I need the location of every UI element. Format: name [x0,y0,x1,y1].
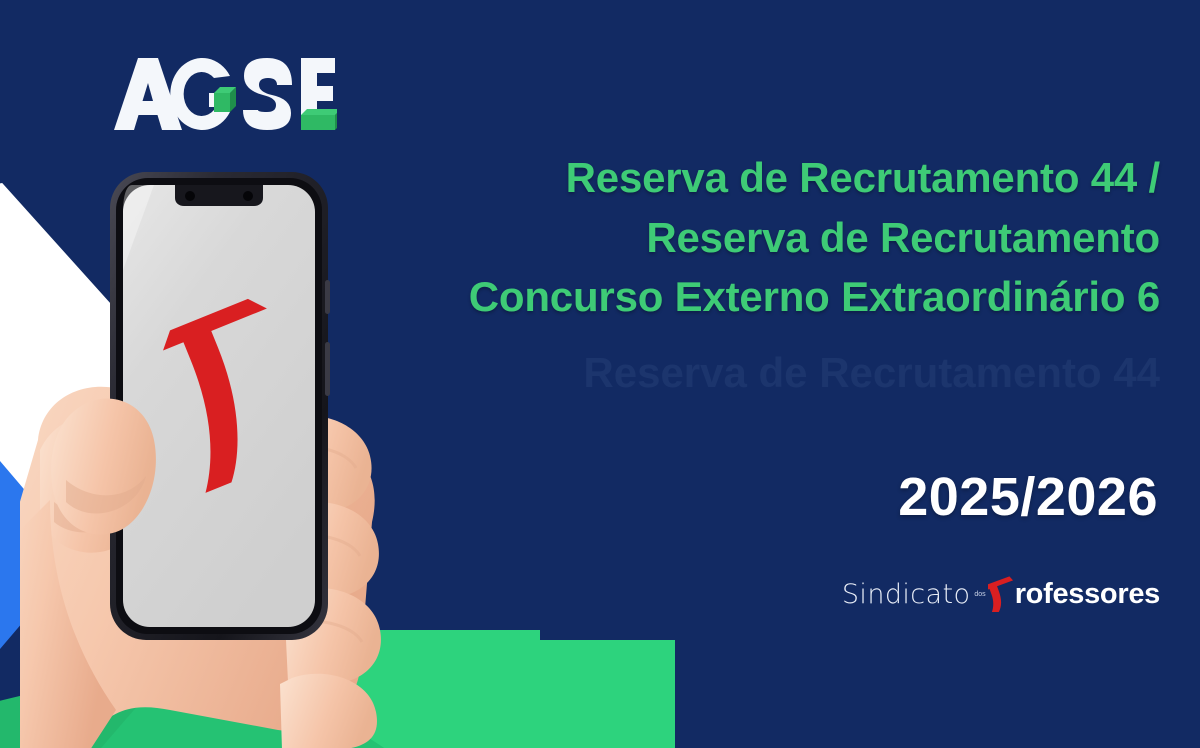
school-year-label: 2025/2026 [898,466,1158,528]
sindicato-dos-professores-logo: Sindicato dos rofessores [842,572,1160,616]
headline-line-2: Reserva de Recrutamento [360,208,1160,268]
sindicato-word: Sindicato [842,581,971,608]
agse-logo-letter-s [243,58,292,130]
professores-word: rofessores [1015,580,1160,609]
headline-ghost-line: Reserva de Recrutamento 44 [360,343,1160,403]
agse-logo [112,52,337,138]
dos-word: dos [974,591,985,598]
agse-logo-letter-g [170,58,236,130]
red-seven-icon [988,576,1018,612]
page-title: Reserva de Recrutamento 44 / Reserva de … [360,148,1160,327]
phone-sensor [243,191,253,201]
agse-logo-letter-e [301,58,337,130]
banner-canvas: Reserva de Recrutamento 44 Reserva de Re… [0,0,1200,748]
smartphone-device [110,172,330,640]
headline-line-1: Reserva de Recrutamento 44 / [360,148,1160,208]
headline-line-3: Concurso Externo Extraordinário 6 [360,267,1160,327]
phone-front-camera [185,191,195,201]
